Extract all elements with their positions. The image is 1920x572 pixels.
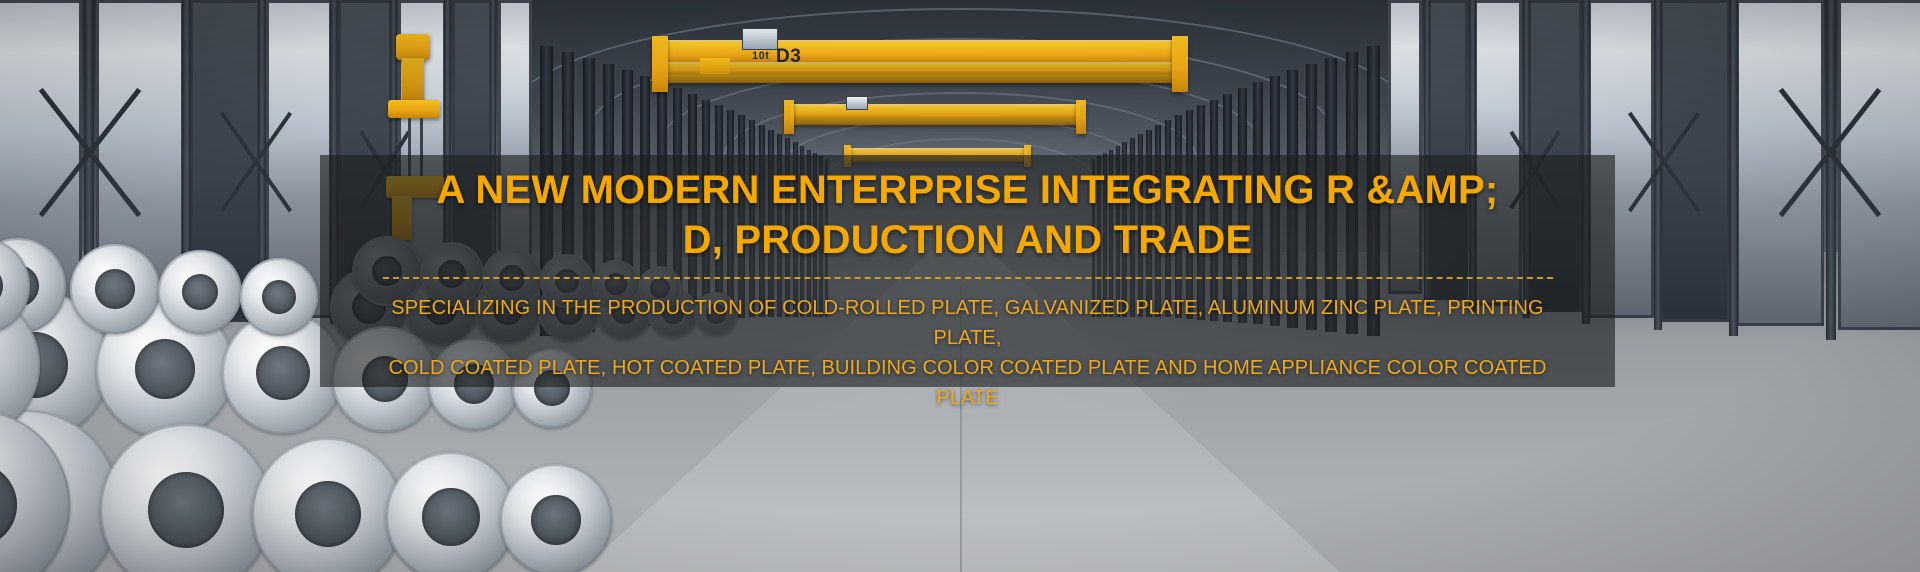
hero-banner: 10t D3 [0,0,1920,572]
crane-capacity-label: 10t [752,50,769,62]
banner-subtitle-line-1: SPECIALIZING IN THE PRODUCTION OF COLD-R… [391,297,1543,349]
banner-subtitle-line-2: COLD COATED PLATE, HOT COATED PLATE, BUI… [389,357,1547,409]
banner-headline-line-1: A NEW MODERN ENTERPRISE INTEGRATING R &A… [437,168,1499,212]
banner-subtitle: SPECIALIZING IN THE PRODUCTION OF COLD-R… [383,293,1553,413]
crane-mark-label: D3 [776,46,801,68]
banner-text-overlay: A NEW MODERN ENTERPRISE INTEGRATING R &A… [320,155,1615,387]
headline-divider [383,277,1553,279]
banner-headline-line-2: D, PRODUCTION AND TRADE [683,218,1253,262]
banner-headline: A NEW MODERN ENTERPRISE INTEGRATING R &A… [383,165,1553,265]
